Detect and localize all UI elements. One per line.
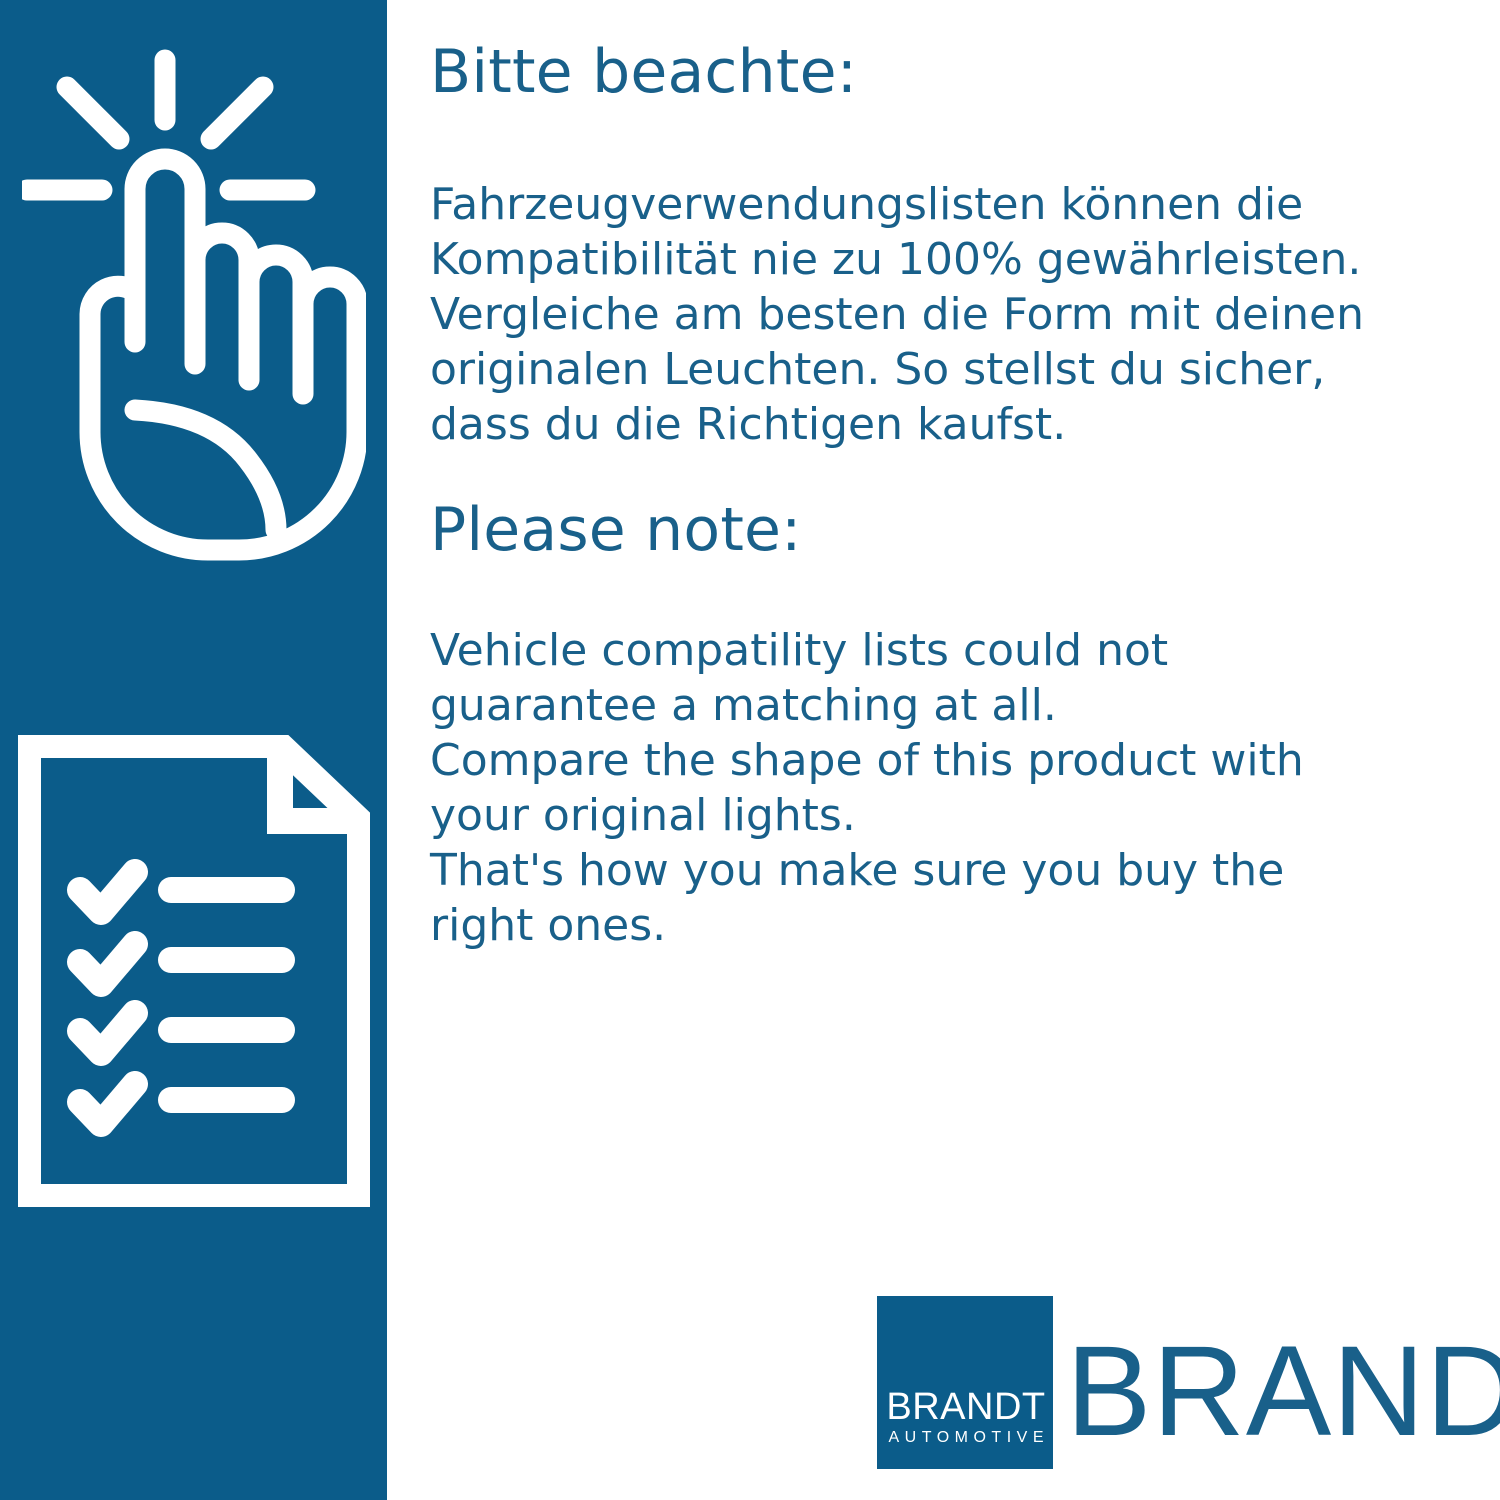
notice-body-en-line: right ones. (430, 898, 1460, 953)
notice-body-en-line: Compare the shape of this product with (430, 733, 1460, 788)
notice-body-en-line: guarantee a matching at all. (430, 678, 1460, 733)
logo-wordmark: BRANDT (1066, 1328, 1500, 1456)
notice-body-de-line: Fahrzeugverwendungslisten können die (430, 177, 1460, 232)
pointing-hand-click-icon (22, 42, 366, 562)
notice-body-en-line: your original lights. (430, 788, 1460, 843)
notice-body-en: Vehicle compatility lists could not guar… (430, 623, 1460, 953)
icon-sidebar (0, 0, 387, 1500)
logo-mark-brandt-text: BRANDT (883, 1388, 1049, 1426)
checklist-document-icon (18, 735, 370, 1207)
notice-body-de-line: Vergleiche am besten die Form mit deinen (430, 287, 1460, 342)
notice-body-en-line: That's how you make sure you buy the (430, 843, 1460, 898)
notice-content: Bitte beachte: Fahrzeugverwendungslisten… (387, 0, 1500, 1500)
notice-body-en-line: Vehicle compatility lists could not (430, 623, 1460, 678)
notice-body-de-line: originalen Leuchten. So stellst du siche… (430, 342, 1460, 397)
notice-body-de-line: dass du die Richtigen kaufst. (430, 397, 1460, 452)
notice-heading-en: Please note: (430, 500, 802, 560)
logo-mark-square: BRANDT AUTOMOTIVE (877, 1296, 1053, 1469)
notice-heading-de: Bitte beachte: (430, 42, 857, 102)
product-notice-graphic: Bitte beachte: Fahrzeugverwendungslisten… (0, 0, 1500, 1500)
logo-mark-automotive-text: AUTOMOTIVE (883, 1430, 1049, 1446)
notice-body-de-line: Kompatibilität nie zu 100% gewährleisten… (430, 232, 1460, 287)
notice-body-de: Fahrzeugverwendungslisten können die Kom… (430, 177, 1460, 452)
brandt-automotive-logo: BRANDT AUTOMOTIVE BRANDT (877, 1296, 1440, 1470)
